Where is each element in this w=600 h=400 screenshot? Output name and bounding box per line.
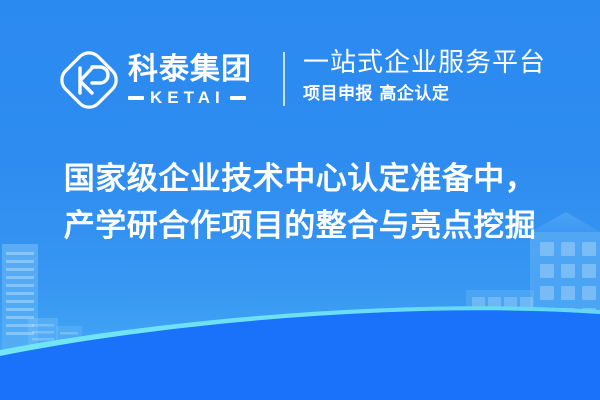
left-low-blocks <box>28 318 82 360</box>
logo-company-name-cn: 科泰集团 <box>128 53 252 87</box>
logo-dash-right <box>230 96 246 100</box>
brand-logo: 科泰集团 KETAI <box>60 44 252 116</box>
left-skyscraper <box>2 244 38 360</box>
logo-dash-left <box>128 96 144 100</box>
ketai-diamond-kp-monogram-icon <box>60 51 118 109</box>
headline-line-2: 产学研合作项目的整合与亮点挖掘 <box>0 203 600 250</box>
headline-block: 国家级企业技术中心认定准备中， 产学研合作项目的整合与亮点挖掘 <box>0 156 600 250</box>
right-short-building <box>466 290 534 350</box>
headline-line-1: 国家级企业技术中心认定准备中， <box>0 156 600 203</box>
logo-company-name-en: KETAI <box>150 89 225 107</box>
tagline-main-text: 一站式企业服务平台 <box>303 46 563 80</box>
cyan-curve-highlight <box>0 306 600 360</box>
vertical-divider <box>283 52 285 106</box>
bottom-blue-band <box>0 310 600 400</box>
logo-company-name-en-row: KETAI <box>128 89 252 107</box>
promo-banner: 科泰集团 KETAI 一站式企业服务平台 项目申报 高企认定 国家级企业技术中心… <box>0 0 600 400</box>
tagline-block: 一站式企业服务平台 项目申报 高企认定 <box>303 46 563 106</box>
tagline-sub-text: 项目申报 高企认定 <box>303 82 563 106</box>
